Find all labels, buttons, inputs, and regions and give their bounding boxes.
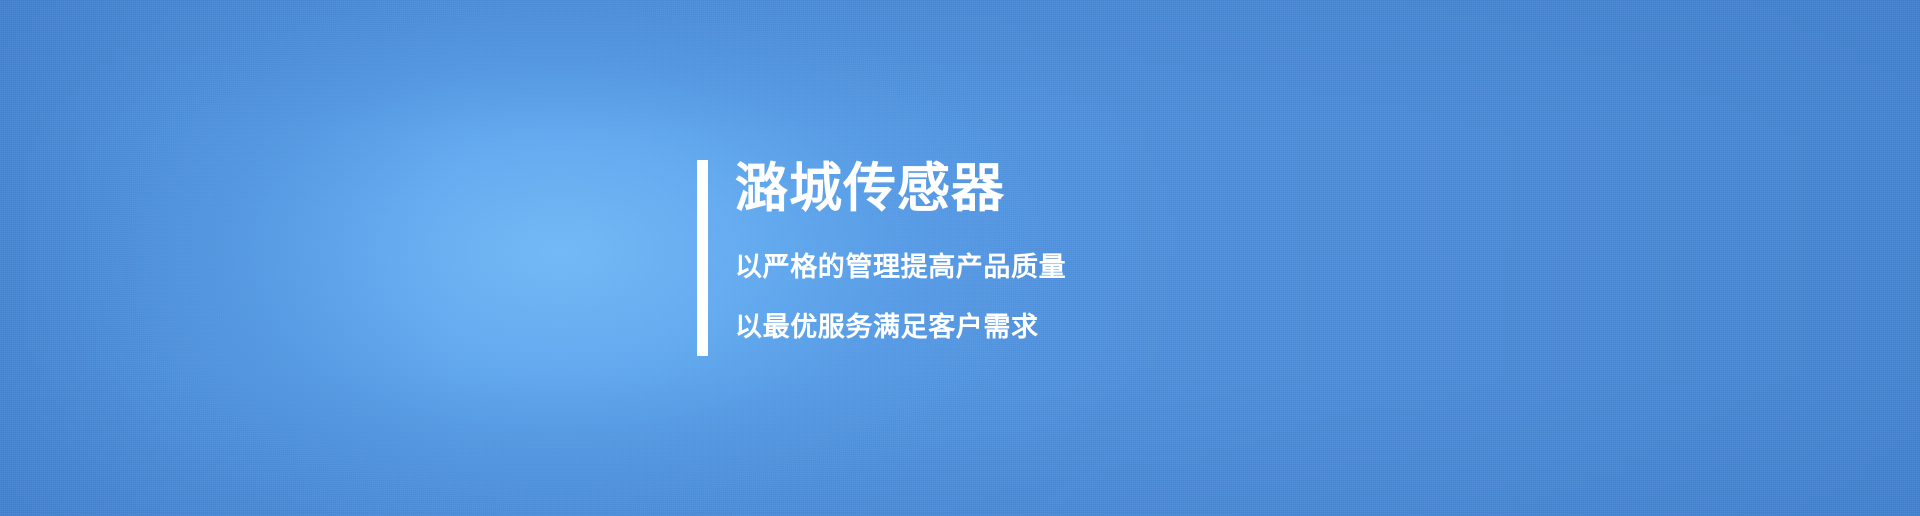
hero-text-group: 潞城传感器 以严格的管理提高产品质量 以最优服务满足客户需求	[708, 160, 1066, 356]
hero-banner: 潞城传感器 以严格的管理提高产品质量 以最优服务满足客户需求	[0, 0, 1920, 516]
hero-content: 潞城传感器 以严格的管理提高产品质量 以最优服务满足客户需求	[697, 160, 1066, 356]
tagline-quality: 以严格的管理提高产品质量	[735, 215, 1066, 281]
tagline-service: 以最优服务满足客户需求	[735, 281, 1066, 341]
vertical-accent-bar	[697, 160, 708, 356]
company-title: 潞城传感器	[735, 160, 1066, 215]
